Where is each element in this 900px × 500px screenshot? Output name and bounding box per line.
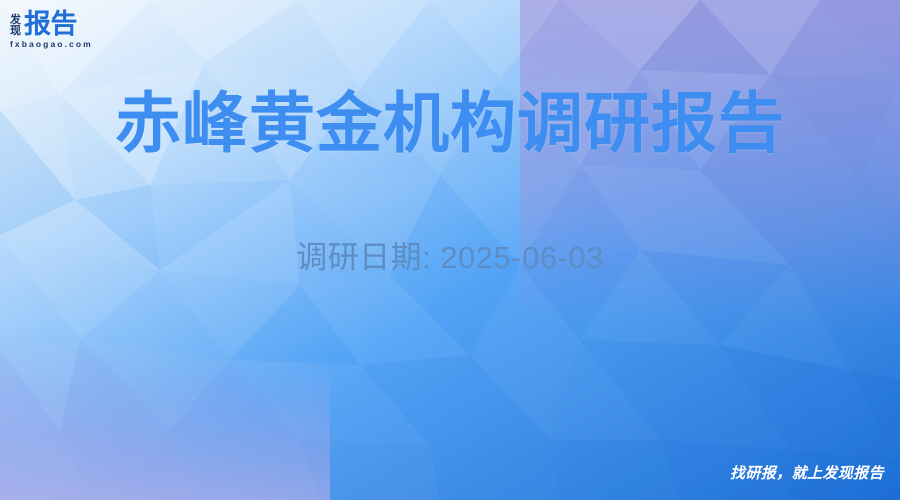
logo-char-xian: 现: [10, 26, 21, 37]
logo-stacked-characters: 发 现: [10, 15, 21, 38]
report-cover-slide: 发 现 报告 fxbaogao.com 赤峰黄金机构调研报告 调研日期: 202…: [0, 0, 900, 500]
page-title: 赤峰黄金机构调研报告: [0, 88, 900, 159]
logo-wordmark-row: 发 现 报告: [10, 8, 77, 38]
footer-tagline: 找研报，就上发现报告: [730, 462, 884, 483]
logo-wordmark: 报告: [24, 11, 77, 38]
survey-date-subtitle: 调研日期: 2025-06-03: [0, 232, 900, 277]
brand-logo[interactable]: 发 现 报告 fxbaogao.com: [10, 8, 150, 52]
logo-url: fxbaogao.com: [10, 39, 93, 49]
